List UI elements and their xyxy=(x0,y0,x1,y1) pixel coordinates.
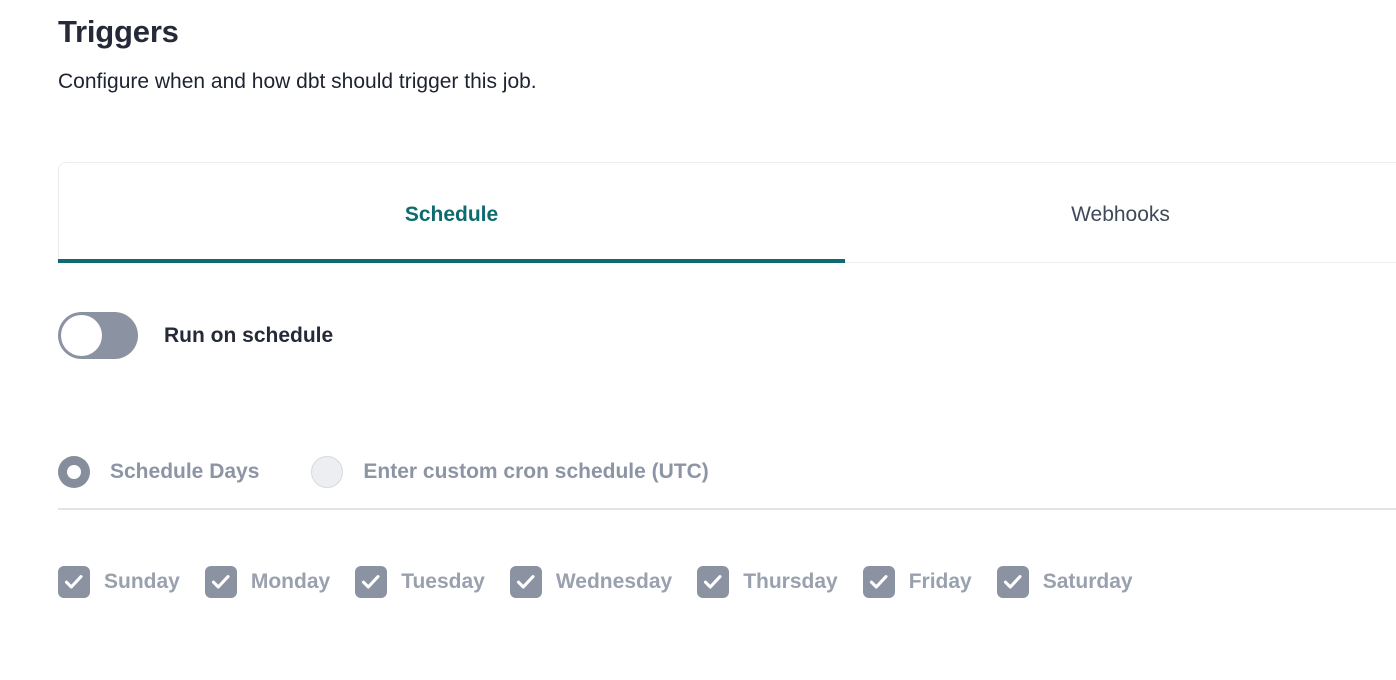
day-checkbox-saturday[interactable]: Saturday xyxy=(997,566,1133,598)
radio-selected-icon xyxy=(58,456,90,488)
check-icon xyxy=(58,566,90,598)
day-label-thursday: Thursday xyxy=(743,568,838,596)
radio-unselected-icon xyxy=(311,456,343,488)
day-checkbox-friday[interactable]: Friday xyxy=(863,566,972,598)
day-checkbox-monday[interactable]: Monday xyxy=(205,566,330,598)
day-checkbox-sunday[interactable]: Sunday xyxy=(58,566,180,598)
day-label-friday: Friday xyxy=(909,568,972,596)
schedule-days-row: Sunday Monday Tuesday Wednesday Thursday xyxy=(58,566,1133,598)
page-header: Triggers Configure when and how dbt shou… xyxy=(58,10,1358,96)
tab-bar: Schedule Webhooks xyxy=(58,162,1396,268)
schedule-mode-radio-group: Schedule Days Enter custom cron schedule… xyxy=(58,456,709,488)
toggle-knob xyxy=(61,315,102,356)
day-label-saturday: Saturday xyxy=(1043,568,1133,596)
radio-option-schedule-days[interactable]: Schedule Days xyxy=(58,456,259,488)
page-title: Triggers xyxy=(58,10,1358,54)
day-checkbox-wednesday[interactable]: Wednesday xyxy=(510,566,672,598)
radio-label-custom-cron: Enter custom cron schedule (UTC) xyxy=(363,458,708,486)
check-icon xyxy=(697,566,729,598)
page-subtitle: Configure when and how dbt should trigge… xyxy=(58,54,1358,96)
run-on-schedule-label: Run on schedule xyxy=(164,322,333,350)
day-label-monday: Monday xyxy=(251,568,330,596)
day-checkbox-thursday[interactable]: Thursday xyxy=(697,566,838,598)
day-label-tuesday: Tuesday xyxy=(401,568,485,596)
day-label-wednesday: Wednesday xyxy=(556,568,672,596)
check-icon xyxy=(205,566,237,598)
check-icon xyxy=(997,566,1029,598)
triggers-page: Triggers Configure when and how dbt shou… xyxy=(0,0,1396,680)
tab-webhooks[interactable]: Webhooks xyxy=(845,201,1396,229)
section-divider xyxy=(58,508,1396,510)
check-icon xyxy=(510,566,542,598)
day-label-sunday: Sunday xyxy=(104,568,180,596)
run-on-schedule-row: Run on schedule xyxy=(58,312,333,359)
check-icon xyxy=(863,566,895,598)
tab-schedule[interactable]: Schedule xyxy=(58,201,845,229)
radio-label-schedule-days: Schedule Days xyxy=(110,458,259,486)
tab-active-indicator xyxy=(58,259,845,263)
check-icon xyxy=(355,566,387,598)
day-checkbox-tuesday[interactable]: Tuesday xyxy=(355,566,485,598)
radio-option-custom-cron[interactable]: Enter custom cron schedule (UTC) xyxy=(311,456,708,488)
run-on-schedule-toggle[interactable] xyxy=(58,312,138,359)
